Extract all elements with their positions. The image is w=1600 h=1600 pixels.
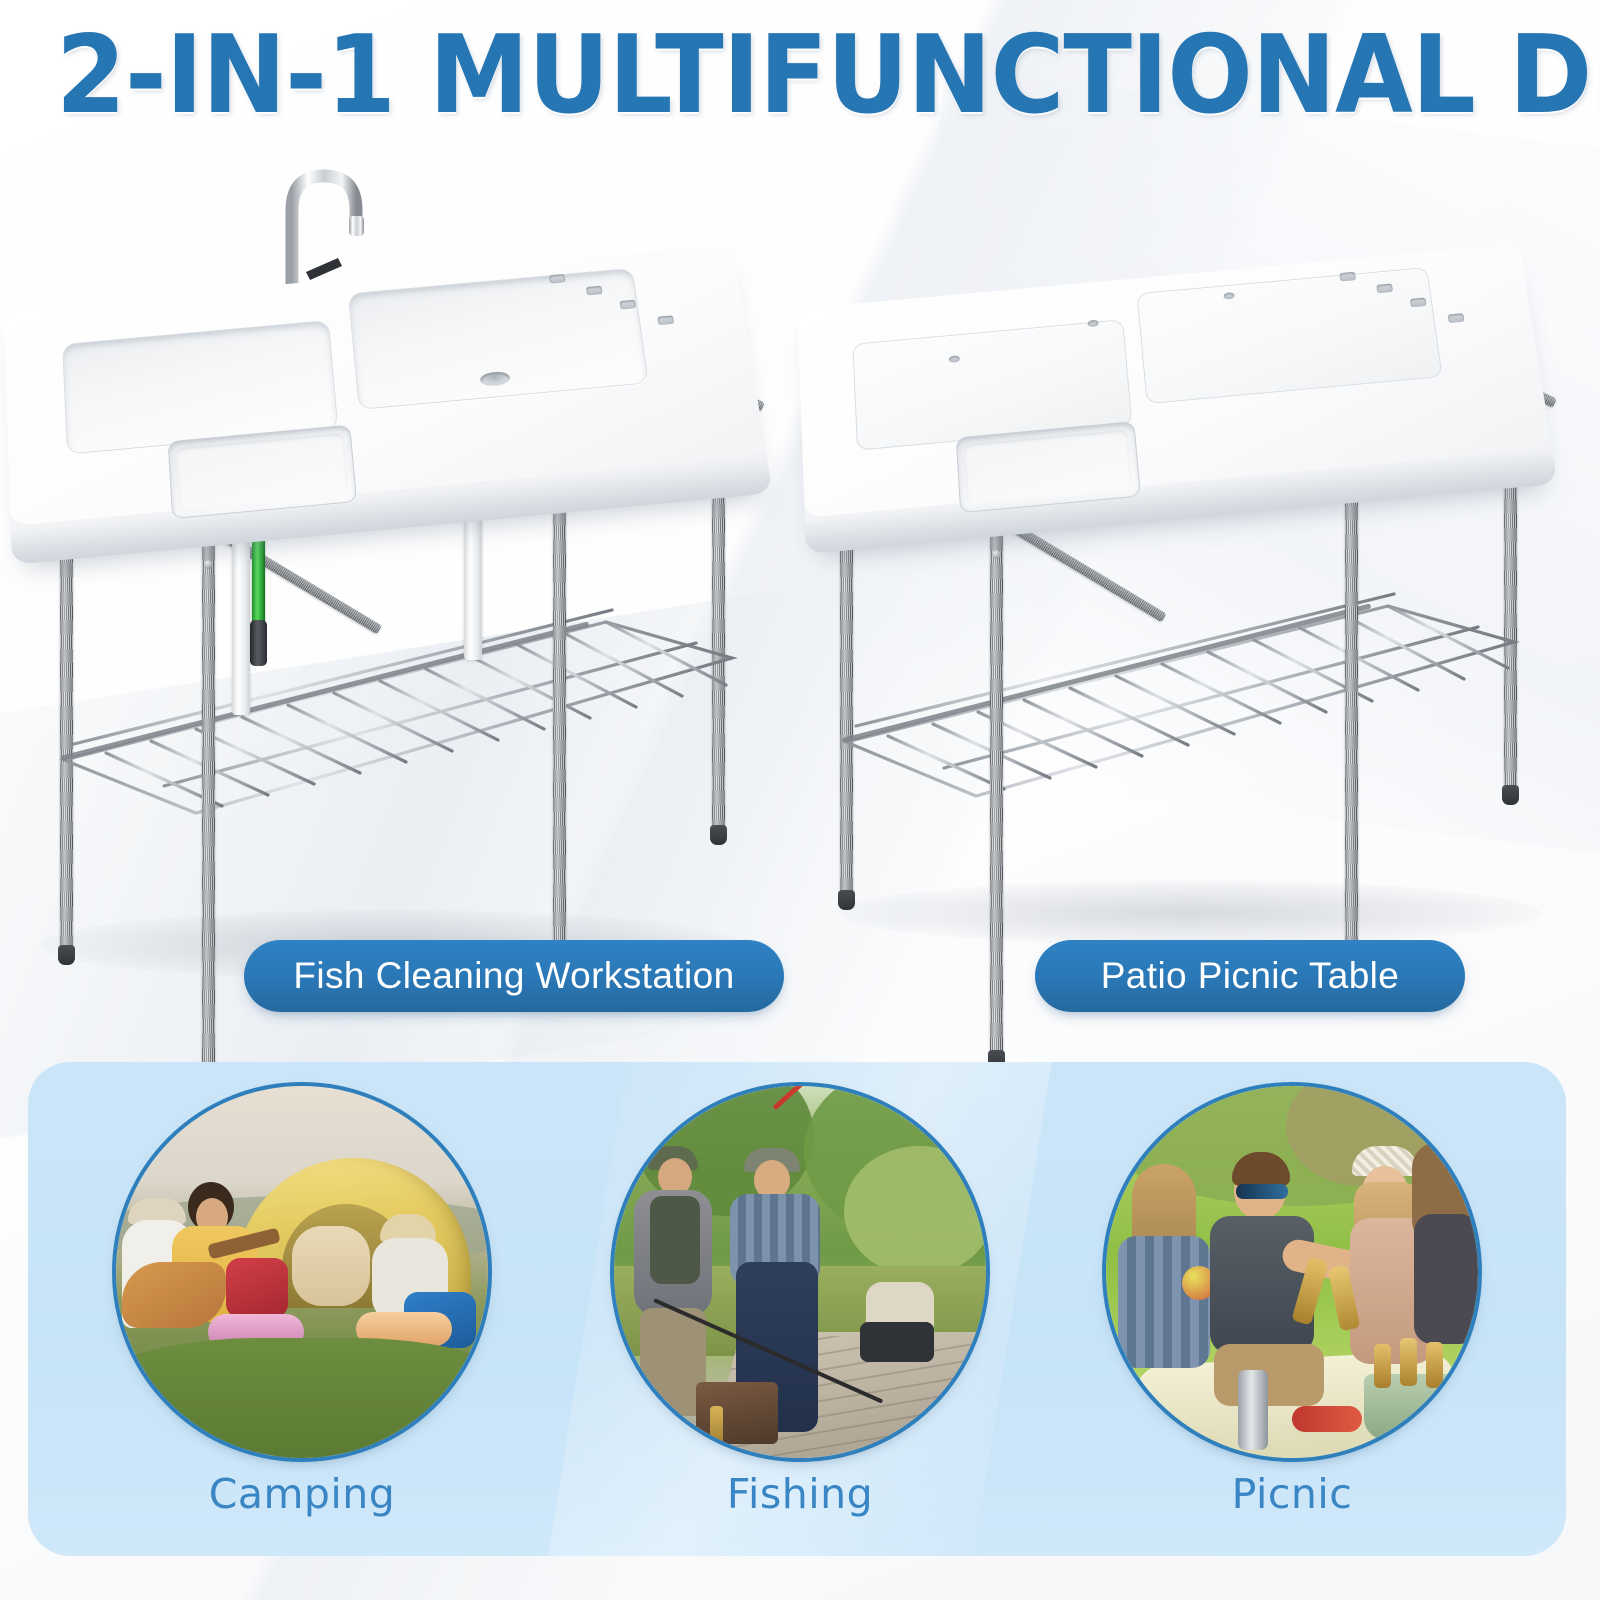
foot-back-left (58, 945, 75, 965)
lifestyle-cell-camping: Camping (46, 1082, 558, 1542)
rod-holder-slot-1 (549, 274, 566, 284)
photo-ring-fishing (610, 1082, 990, 1462)
rod-holder-slot-4 (657, 315, 674, 325)
table-top-fish-station (3, 244, 772, 565)
bucket-bottle-3 (1426, 1342, 1443, 1388)
bait-tray-inner (176, 433, 348, 510)
photo-ring-camping (112, 1082, 492, 1462)
bucket-bottle-1 (1374, 1344, 1391, 1388)
angler-left-vest (650, 1196, 700, 1284)
guitar (122, 1262, 226, 1328)
strawberries (1292, 1406, 1362, 1432)
sunlit-foliage (844, 1146, 986, 1276)
rod-holder-slot-3 (619, 300, 636, 310)
wire-storage-shelf (46, 570, 746, 860)
lifestyle-caption-picnic: Picnic (1036, 1470, 1548, 1518)
bucket-bottle-2 (1400, 1338, 1417, 1386)
woman-right-top (1414, 1214, 1478, 1344)
camper-woman-in-tent (292, 1226, 370, 1306)
photo-ring-picnic (1102, 1082, 1482, 1462)
red-backpack (226, 1258, 288, 1318)
rod-holder-slot-1 (1339, 272, 1356, 282)
grass-foreground (116, 1338, 488, 1458)
table-top-picnic (797, 244, 1557, 555)
leg-front-left (990, 500, 1003, 1060)
wire-storage-shelf (830, 560, 1530, 840)
man-shorts (1214, 1344, 1324, 1406)
sunglasses (1236, 1184, 1288, 1199)
ground-shadow (840, 880, 1540, 946)
product-patio-picnic-table (800, 180, 1590, 980)
tackle-box (696, 1382, 778, 1444)
leg-front-left (202, 510, 215, 1110)
product-scene (0, 150, 1600, 980)
headline-title: 2-IN-1 MULTIFUNCTIONAL DESIGN (56, 22, 1544, 130)
foot-back-left (838, 890, 855, 910)
lifestyle-caption-fishing: Fishing (544, 1470, 1056, 1518)
rod-holder-slot-2 (586, 286, 603, 296)
photo-picnic (1106, 1086, 1478, 1458)
product-fish-cleaning-workstation (0, 150, 790, 980)
leg-front-right (1345, 470, 1358, 950)
woman-left-plaid-shirt (1118, 1236, 1210, 1368)
lifestyle-caption-camping: Camping (46, 1470, 558, 1518)
leg-front-right (553, 475, 566, 995)
rod-holder-slot-2 (1376, 283, 1393, 293)
label-pill-fish-cleaning-workstation: Fish Cleaning Workstation (244, 940, 784, 1012)
promo-canvas: 2-IN-1 MULTIFUNCTIONAL DESIGN (0, 0, 1600, 1600)
lifestyle-cell-fishing: Fishing (544, 1082, 1056, 1542)
thermos (1238, 1370, 1268, 1450)
rod-holder-slot-4 (1448, 313, 1465, 323)
rod-holder-slot-3 (1410, 298, 1427, 308)
photo-camping (116, 1086, 488, 1458)
bottle (710, 1406, 723, 1448)
folding-chair (860, 1322, 934, 1362)
lifestyle-cell-picnic: Picnic (1036, 1082, 1548, 1542)
man-tshirt (1210, 1216, 1314, 1354)
label-pill-patio-picnic-table: Patio Picnic Table (1035, 940, 1465, 1012)
hose-nozzle (250, 620, 267, 666)
photo-fishing (614, 1086, 986, 1458)
rivet-center (992, 550, 1001, 559)
rivet-center (204, 560, 213, 569)
lifestyle-panel: Camping (28, 1062, 1566, 1556)
